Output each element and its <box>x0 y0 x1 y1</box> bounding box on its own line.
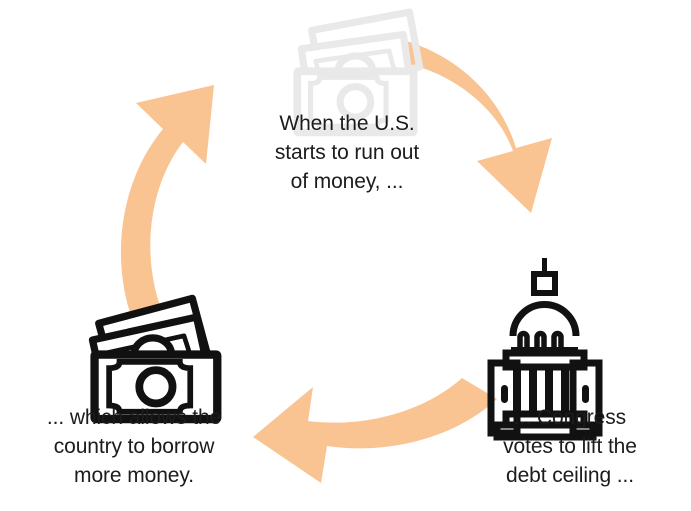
step-label-bottom-right: ... Congress votes to lift the debt ceil… <box>477 404 663 491</box>
arrow-left <box>121 85 214 336</box>
money-stack-icon <box>92 298 217 419</box>
arrow-bottom <box>253 378 497 483</box>
step-label-bottom-left: ... which allows the country to borrow m… <box>28 404 240 491</box>
debt-ceiling-cycle-diagram: When the U.S. starts to run out of money… <box>0 0 691 511</box>
step-label-top: When the U.S. starts to run out of money… <box>240 110 454 197</box>
